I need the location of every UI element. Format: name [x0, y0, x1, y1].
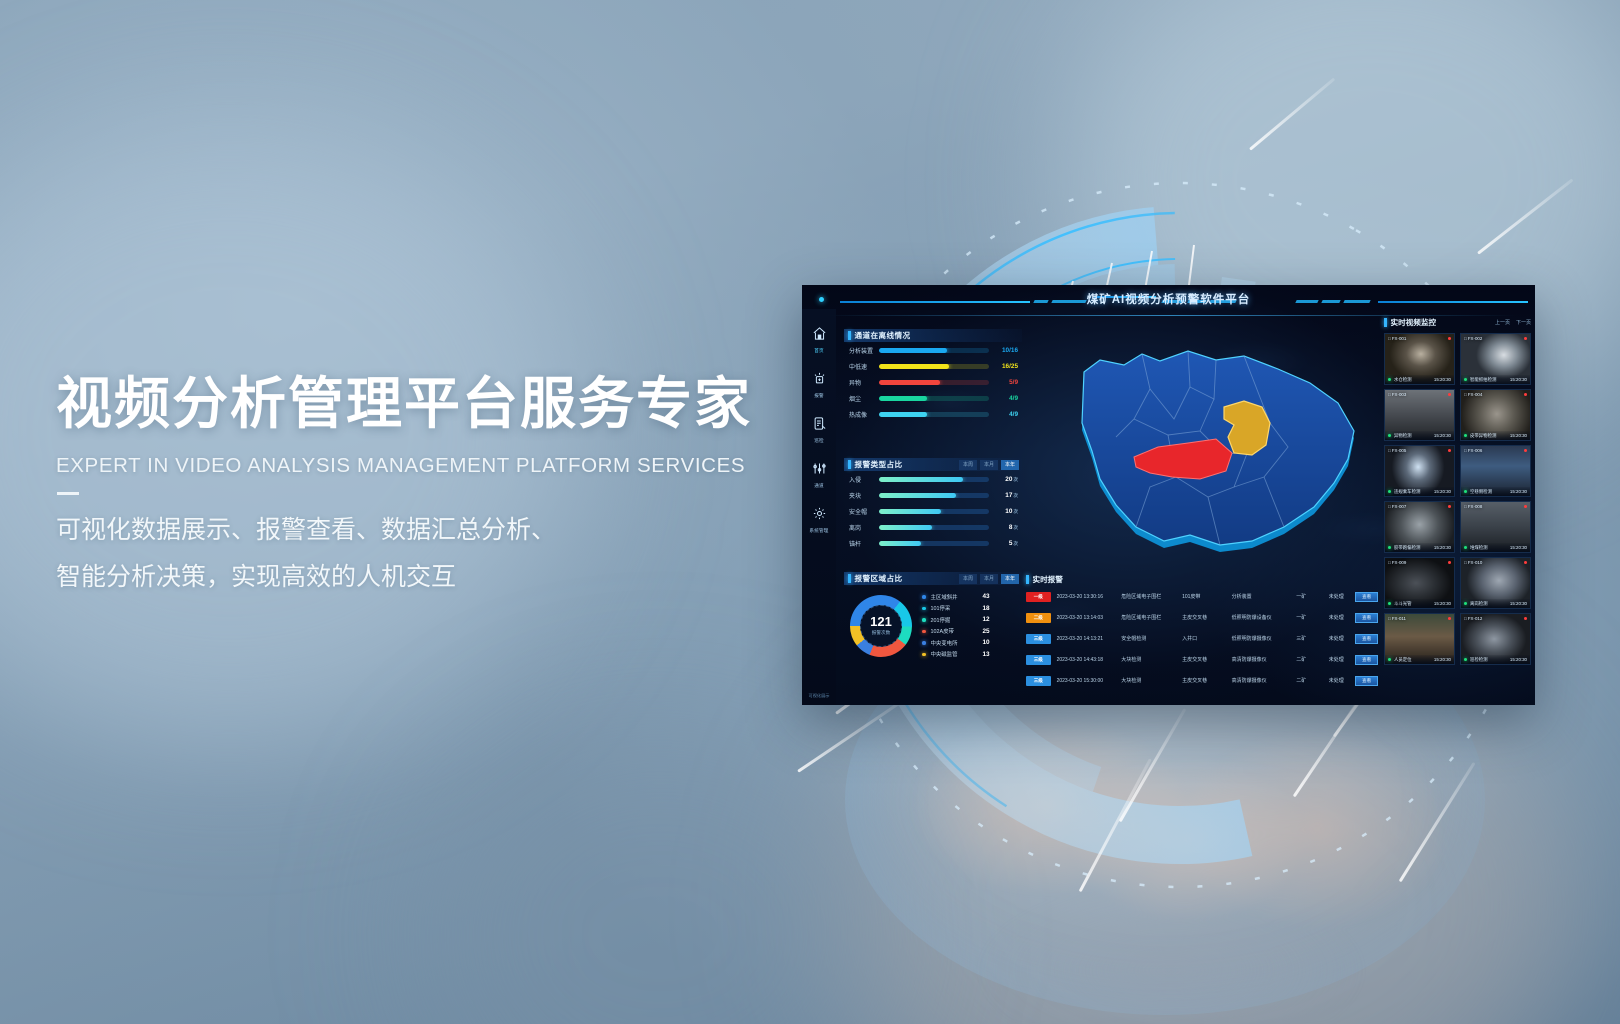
video-cell-footer: 斗斗光管 15:20:30 — [1385, 599, 1454, 608]
camera-id: □ FX-010 — [1464, 560, 1482, 565]
online-status-icon — [1464, 434, 1467, 437]
legend-value: 13 — [983, 651, 990, 658]
row-label: 分析装置 — [849, 346, 879, 355]
legend-color-dot — [922, 641, 926, 645]
alarm-type-row: 夹块 17次 — [844, 487, 1022, 503]
camera-time: 15:20:30 — [1434, 545, 1451, 550]
panel-header: 报警区域占比 本周本月本年 — [844, 572, 1022, 585]
cell-time: 2023-03-20 14:43:18 — [1051, 657, 1116, 663]
legend-item: 101停采 18 — [922, 603, 990, 615]
progress-fill — [879, 364, 949, 369]
row-label: 入侵 — [849, 475, 879, 484]
row-value: 16/25 — [989, 363, 1022, 370]
period-tabs[interactable]: 本周本月本年 — [959, 574, 1022, 584]
channel-status-row: 异物 5/9 — [844, 374, 1022, 390]
province-map[interactable] — [1038, 327, 1368, 572]
recording-indicator-icon — [1448, 561, 1451, 564]
row-value: 17次 — [989, 492, 1022, 499]
camera-time: 15:20:30 — [1510, 657, 1527, 662]
legend-color-dot — [922, 607, 926, 611]
view-button[interactable]: 查看 — [1355, 592, 1378, 602]
accent-bar — [1026, 575, 1029, 584]
progress-fill — [879, 477, 963, 482]
dashboard-sidebar[interactable]: 首页 报警 巡检 — [802, 309, 836, 705]
status-badge: 三级 — [1026, 676, 1051, 686]
online-status-icon — [1388, 602, 1391, 605]
donut-graphic: 121 报警次数 — [850, 595, 912, 657]
video-cell-footer: 空巷侧检测 15:20:30 — [1461, 487, 1530, 496]
row-value: 10/16 — [989, 347, 1022, 354]
recording-indicator-icon — [1524, 393, 1527, 396]
dashboard-screenshot: 煤矿AI视频分析预警软件平台 首页 报警 — [802, 285, 1535, 705]
recording-indicator-icon — [1448, 505, 1451, 508]
status-badge: 三级 — [1026, 634, 1051, 644]
video-cell[interactable]: □ FX-004 皮带异物检测 15:20:30 — [1460, 389, 1531, 441]
sidebar-item-home[interactable]: 首页 — [802, 326, 836, 354]
alarm-type-row: 入侵 20次 — [844, 471, 1022, 487]
camera-name: 智能抓拍检测 — [1470, 377, 1496, 383]
video-cell[interactable]: □ FX-002 智能抓拍检测 15:20:30 — [1460, 333, 1531, 385]
panel-title: 实时视频监控 — [1391, 317, 1437, 328]
panel-title: 通道在离线情况 — [855, 330, 911, 341]
camera-name: 堆煤检测 — [1470, 545, 1488, 551]
video-cell-footer: 巡检检测 15:20:30 — [1461, 655, 1530, 664]
recording-indicator-icon — [1524, 449, 1527, 452]
online-status-icon — [1464, 602, 1467, 605]
progress-track — [879, 380, 989, 385]
video-cell-footer: 水仓检测 15:20:30 — [1385, 375, 1454, 384]
camera-time: 15:20:30 — [1434, 489, 1451, 494]
cell-device: 低照明防爆设备仪 — [1226, 614, 1291, 621]
alarm-area-donut-chart: 121 报警次数 主区域斜井 43 101停采 18 201停掘 12 102A… — [844, 585, 1022, 660]
progress-fill — [879, 380, 940, 385]
donut-center: 121 报警次数 — [860, 605, 902, 647]
accent-bar — [848, 331, 851, 340]
progress-fill — [879, 509, 941, 514]
online-status-icon — [1388, 490, 1391, 493]
progress-track — [879, 509, 989, 514]
hero-line-1: 可视化数据展示、报警查看、数据汇总分析、 — [56, 507, 816, 553]
legend-value: 18 — [983, 605, 990, 612]
video-cell[interactable]: □ FX-012 巡检检测 15:20:30 — [1460, 613, 1531, 665]
cell-type: 危险区域电子围栏 — [1115, 614, 1176, 621]
alarm-table-body: 一级 2023-03-20 13:30:16 危险区域电子围栏 101皮带 分析… — [1026, 586, 1378, 691]
status-badge: 二级 — [1026, 613, 1051, 623]
recording-indicator-icon — [1524, 561, 1527, 564]
legend-color-dot — [922, 630, 926, 634]
channel-status-row: 分析装置 10/16 — [844, 342, 1022, 358]
progress-fill — [879, 348, 947, 353]
progress-fill — [879, 396, 927, 401]
cell-location: 入井口 — [1176, 635, 1226, 642]
progress-track — [879, 477, 989, 482]
panel-channel-status: 通道在离线情况 分析装置 10/16 中低速 16/25 异物 5/9 烟尘 4… — [844, 329, 1022, 422]
panel-header: 实时报警 — [1026, 573, 1378, 586]
period-tab[interactable]: 本年 — [1001, 574, 1019, 584]
cell-status: 未处理 — [1323, 593, 1355, 600]
channel-status-row: 中低速 16/25 — [844, 358, 1022, 374]
progress-track — [879, 348, 989, 353]
camera-time: 15:20:30 — [1510, 545, 1527, 550]
recording-indicator-icon — [1448, 617, 1451, 620]
progress-fill — [879, 493, 956, 498]
channel-status-rows: 分析装置 10/16 中低速 16/25 异物 5/9 烟尘 4/9 热成像 4… — [844, 342, 1022, 422]
progress-track — [879, 364, 989, 369]
home-icon — [812, 326, 827, 346]
row-label: 锚杆 — [849, 539, 879, 548]
panel-header: 报警类型占比 本周本月本年 — [844, 458, 1022, 471]
legend-value: 43 — [983, 593, 990, 600]
hero-copy: 视频分析管理平台服务专家 EXPERT IN VIDEO ANALYSIS MA… — [56, 372, 816, 600]
cell-status: 未处理 — [1323, 677, 1355, 684]
cell-time: 2023-03-20 14:13:21 — [1051, 636, 1116, 642]
table-row[interactable]: 三级 2023-03-20 14:43:18 大块检测 主皮交叉巷 高清防爆摄像… — [1026, 649, 1378, 670]
legend-label: 201停掘 — [931, 616, 983, 624]
video-cell[interactable]: □ FX-010 离岗检测 15:20:30 — [1460, 557, 1531, 609]
legend-item: 主区域斜井 43 — [922, 591, 990, 603]
legend-item: 中央变电所 10 — [922, 637, 990, 649]
period-tab[interactable]: 本周 — [959, 574, 977, 584]
recording-indicator-icon — [1524, 337, 1527, 340]
period-tab[interactable]: 本月 — [980, 460, 998, 470]
camera-time: 15:20:30 — [1434, 657, 1451, 662]
legend-label: 101停采 — [931, 604, 983, 612]
camera-id: □ FX-005 — [1388, 448, 1406, 453]
channel-icon — [812, 461, 827, 481]
legend-color-dot — [922, 653, 926, 657]
alarm-type-rows: 入侵 20次 夹块 17次 安全帽 10次 离岗 8次 锚杆 5次 — [844, 471, 1022, 551]
prev-page-button[interactable]: 上一页 — [1495, 319, 1510, 326]
cell-device: 高清防爆摄像仪 — [1226, 656, 1291, 663]
alarm-type-row: 安全帽 10次 — [844, 503, 1022, 519]
period-tab[interactable]: 本年 — [1001, 460, 1019, 470]
cell-type: 大块检测 — [1115, 677, 1176, 684]
accent-bar — [1384, 318, 1387, 327]
video-cell[interactable]: □ FX-001 水仓检测 15:20:30 — [1384, 333, 1455, 385]
sidebar-item-system-management[interactable]: 系统管理 — [802, 506, 836, 534]
video-cell-footer: 胶带跑偏检测 15:20:30 — [1385, 543, 1454, 552]
row-label: 异物 — [849, 378, 879, 387]
cell-device: 低照明防爆摄像仪 — [1226, 635, 1291, 642]
legend-label: 中央磁监管 — [931, 650, 983, 658]
video-pagination[interactable]: 上一页 下一页 — [1495, 319, 1531, 326]
camera-time: 15:20:30 — [1510, 601, 1527, 606]
legend-label: 102A皮带 — [931, 627, 983, 635]
channel-status-row: 烟尘 4/9 — [844, 390, 1022, 406]
recording-indicator-icon — [1448, 337, 1451, 340]
recording-indicator-icon — [1524, 505, 1527, 508]
video-cell-footer: 皮带异物检测 15:20:30 — [1461, 431, 1530, 440]
hero-subheadline-en: EXPERT IN VIDEO ANALYSIS MANAGEMENT PLAT… — [56, 454, 816, 478]
view-button[interactable]: 查看 — [1355, 676, 1378, 686]
progress-fill — [879, 541, 921, 546]
cell-type: 安全帽检测 — [1115, 635, 1176, 642]
camera-id: □ FX-007 — [1388, 504, 1406, 509]
camera-name: 离岗检测 — [1470, 601, 1488, 607]
gear-icon — [812, 506, 827, 526]
camera-time: 15:20:30 — [1434, 377, 1451, 382]
progress-track — [879, 396, 989, 401]
cell-device: 高清防爆摄像仪 — [1226, 677, 1291, 684]
camera-name: 违规乘车检测 — [1394, 489, 1420, 495]
table-row[interactable]: 三级 2023-03-20 14:13:21 安全帽检测 入井口 低照明防爆摄像… — [1026, 628, 1378, 649]
period-tab[interactable]: 本周 — [959, 460, 977, 470]
cell-type: 危险区域电子围栏 — [1115, 593, 1176, 600]
panel-header: 通道在离线情况 — [844, 329, 1022, 342]
alarm-type-row: 离岗 8次 — [844, 519, 1022, 535]
panel-title: 实时报警 — [1033, 574, 1063, 585]
camera-id: □ FX-009 — [1388, 560, 1406, 565]
video-cell[interactable]: □ FX-009 斗斗光管 15:20:30 — [1384, 557, 1455, 609]
sidebar-item-inspection[interactable]: 巡检 — [802, 416, 836, 444]
camera-name: 人员定位 — [1394, 657, 1412, 663]
period-tab[interactable]: 本月 — [980, 574, 998, 584]
camera-time: 15:20:30 — [1434, 601, 1451, 606]
video-cell-footer: 堆煤检测 15:20:30 — [1461, 543, 1530, 552]
alarm-type-row: 锚杆 5次 — [844, 535, 1022, 551]
cell-location: 主皮交叉巷 — [1176, 677, 1226, 684]
row-value: 4/9 — [989, 411, 1022, 418]
cell-location: 主皮交叉巷 — [1176, 614, 1226, 621]
accent-bar — [848, 460, 851, 469]
online-status-icon — [1464, 658, 1467, 661]
sidebar-item-label: 首页 — [814, 348, 824, 354]
progress-track — [879, 525, 989, 530]
panel-title: 报警类型占比 — [855, 459, 903, 470]
progress-track — [879, 412, 989, 417]
online-status-icon — [1388, 434, 1391, 437]
sidebar-item-label: 巡检 — [814, 438, 824, 444]
video-cell-footer: 异物检测 15:20:30 — [1385, 431, 1454, 440]
video-cell[interactable]: □ FX-003 异物检测 15:20:30 — [1384, 389, 1455, 441]
video-grid: □ FX-001 水仓检测 15:20:30 □ FX-002 智能抓拍检测 1… — [1384, 333, 1531, 665]
sidebar-item-alarm[interactable]: 报警 — [802, 371, 836, 399]
video-cell-footer: 离岗检测 15:20:30 — [1461, 599, 1530, 608]
camera-id: □ FX-006 — [1464, 448, 1482, 453]
camera-name: 胶带跑偏检测 — [1394, 545, 1420, 551]
cell-time: 2023-03-20 13:14:03 — [1051, 615, 1116, 621]
video-cell[interactable]: □ FX-011 人员定位 15:20:30 — [1384, 613, 1455, 665]
video-cell[interactable]: □ FX-006 空巷侧检测 15:20:30 — [1460, 445, 1531, 497]
legend-item: 201停掘 12 — [922, 614, 990, 626]
camera-name: 皮带异物检测 — [1470, 433, 1496, 439]
row-value: 20次 — [989, 476, 1022, 483]
cell-status: 未处理 — [1323, 635, 1355, 642]
panel-title: 报警区域占比 — [855, 573, 903, 584]
camera-time: 15:20:30 — [1510, 433, 1527, 438]
row-label: 安全帽 — [849, 507, 879, 516]
legend-label: 中央变电所 — [931, 639, 983, 647]
donut-total: 121 — [870, 615, 892, 628]
sidebar-item-channel[interactable]: 通道 — [802, 461, 836, 489]
row-value: 10次 — [989, 508, 1022, 515]
row-label: 中低速 — [849, 362, 879, 371]
camera-id: □ FX-012 — [1464, 616, 1482, 621]
legend-value: 10 — [983, 639, 990, 646]
row-value: 8次 — [989, 524, 1022, 531]
legend-value: 12 — [983, 616, 990, 623]
cell-time: 2023-03-20 15:30:00 — [1051, 678, 1116, 684]
legend-item: 102A皮带 25 — [922, 626, 990, 638]
progress-fill — [879, 412, 927, 417]
recording-indicator-icon — [1524, 617, 1527, 620]
camera-id: □ FX-008 — [1464, 504, 1482, 509]
table-row[interactable]: 三级 2023-03-20 15:30:00 大块检测 主皮交叉巷 高清防爆摄像… — [1026, 670, 1378, 691]
cell-location: 主皮交叉巷 — [1176, 656, 1226, 663]
camera-name: 水仓检测 — [1394, 377, 1412, 383]
recording-indicator-icon — [1448, 393, 1451, 396]
dashboard-title: 煤矿AI视频分析预警软件平台 — [802, 291, 1535, 307]
cell-location: 101皮带 — [1176, 593, 1226, 600]
table-row[interactable]: 二级 2023-03-20 13:14:03 危险区域电子围栏 主皮交叉巷 低照… — [1026, 607, 1378, 628]
cell-mine: 二矿 — [1290, 656, 1322, 663]
cell-mine: 三矿 — [1290, 635, 1322, 642]
row-value: 5次 — [989, 540, 1022, 547]
video-cell-footer: 智能抓拍检测 15:20:30 — [1461, 375, 1530, 384]
cell-type: 大块检测 — [1115, 656, 1176, 663]
camera-name: 异物检测 — [1394, 433, 1412, 439]
hero-headline: 视频分析管理平台服务专家 — [56, 372, 816, 436]
donut-caption: 报警次数 — [872, 630, 890, 636]
hero-line-2: 智能分析决策，实现高效的人机交互 — [56, 554, 816, 600]
online-status-icon — [1464, 378, 1467, 381]
video-cell[interactable]: □ FX-008 堆煤检测 15:20:30 — [1460, 501, 1531, 553]
accent-bar — [848, 574, 851, 583]
online-status-icon — [1464, 546, 1467, 549]
legend-color-dot — [922, 595, 926, 599]
row-label: 热成像 — [849, 410, 879, 419]
legend-label: 主区域斜井 — [931, 593, 983, 601]
progress-track — [879, 541, 989, 546]
row-label: 夹块 — [849, 491, 879, 500]
row-value: 5/9 — [989, 379, 1022, 386]
video-cell[interactable]: □ FX-007 胶带跑偏检测 15:20:30 — [1384, 501, 1455, 553]
sidebar-item-label: 系统管理 — [809, 528, 828, 534]
alarm-icon — [812, 371, 827, 391]
legend-item: 中央磁监管 13 — [922, 649, 990, 661]
online-status-icon — [1464, 490, 1467, 493]
camera-time: 15:20:30 — [1510, 377, 1527, 382]
period-tabs[interactable]: 本周本月本年 — [959, 460, 1022, 470]
legend-value: 25 — [983, 628, 990, 635]
panel-alarm-areas: 报警区域占比 本周本月本年 121 报警次数 主区域斜井 43 101停采 18… — [844, 572, 1022, 660]
row-value: 4/9 — [989, 395, 1022, 402]
sidebar-item-label: 通道 — [814, 483, 824, 489]
row-label: 烟尘 — [849, 394, 879, 403]
video-cell[interactable]: □ FX-005 违规乘车检测 15:20:30 — [1384, 445, 1455, 497]
camera-name: 巡检检测 — [1470, 657, 1488, 663]
panel-header: 实时视频监控 上一页 下一页 — [1384, 315, 1531, 329]
camera-id: □ FX-001 — [1388, 336, 1406, 341]
donut-legend: 主区域斜井 43 101停采 18 201停掘 12 102A皮带 25 中央变… — [922, 591, 990, 660]
cell-device: 分析装置 — [1226, 593, 1291, 600]
camera-id: □ FX-002 — [1464, 336, 1482, 341]
cell-status: 未处理 — [1323, 656, 1355, 663]
video-cell-footer: 违规乘车检测 15:20:30 — [1385, 487, 1454, 496]
channel-status-row: 热成像 4/9 — [844, 406, 1022, 422]
cell-time: 2023-03-20 13:30:16 — [1051, 594, 1116, 600]
table-row[interactable]: 一级 2023-03-20 13:30:16 危险区域电子围栏 101皮带 分析… — [1026, 586, 1378, 607]
online-status-icon — [1388, 658, 1391, 661]
sidebar-item-label: 报警 — [814, 393, 824, 399]
camera-id: □ FX-003 — [1388, 392, 1406, 397]
camera-name: 空巷侧检测 — [1470, 489, 1492, 495]
cell-mine: 二矿 — [1290, 677, 1322, 684]
camera-name: 斗斗光管 — [1394, 601, 1412, 607]
panel-video-monitor: 实时视频监控 上一页 下一页 □ FX-001 水仓检测 15:20:30 □ … — [1384, 315, 1531, 701]
panel-realtime-alarms: 实时报警 一级 2023-03-20 13:30:16 危险区域电子围栏 101… — [1026, 573, 1378, 695]
legend-color-dot — [922, 618, 926, 622]
progress-fill — [879, 525, 932, 530]
hero-divider — [57, 492, 79, 495]
view-button[interactable]: 查看 — [1355, 613, 1378, 623]
video-cell-footer: 人员定位 15:20:30 — [1385, 655, 1454, 664]
sidebar-indicator-dot — [819, 297, 824, 302]
row-label: 离岗 — [849, 523, 879, 532]
sidebar-footer-note: 可视化展示 — [802, 693, 836, 699]
cell-mine: 一矿 — [1290, 593, 1322, 600]
online-status-icon — [1388, 546, 1391, 549]
cell-status: 未处理 — [1323, 614, 1355, 621]
panel-alarm-types: 报警类型占比 本周本月本年 入侵 20次 夹块 17次 安全帽 10次 离岗 8… — [844, 458, 1022, 551]
status-badge: 三级 — [1026, 655, 1051, 665]
progress-track — [879, 493, 989, 498]
recording-indicator-icon — [1448, 449, 1451, 452]
status-badge: 一级 — [1026, 592, 1051, 602]
view-button[interactable]: 查看 — [1355, 634, 1378, 644]
camera-time: 15:20:30 — [1434, 433, 1451, 438]
next-page-button[interactable]: 下一页 — [1516, 319, 1531, 326]
camera-time: 15:20:30 — [1510, 489, 1527, 494]
online-status-icon — [1388, 378, 1391, 381]
inspection-icon — [812, 416, 827, 436]
camera-id: □ FX-011 — [1388, 616, 1406, 621]
camera-id: □ FX-004 — [1464, 392, 1482, 397]
cell-mine: 一矿 — [1290, 614, 1322, 621]
view-button[interactable]: 查看 — [1355, 655, 1378, 665]
